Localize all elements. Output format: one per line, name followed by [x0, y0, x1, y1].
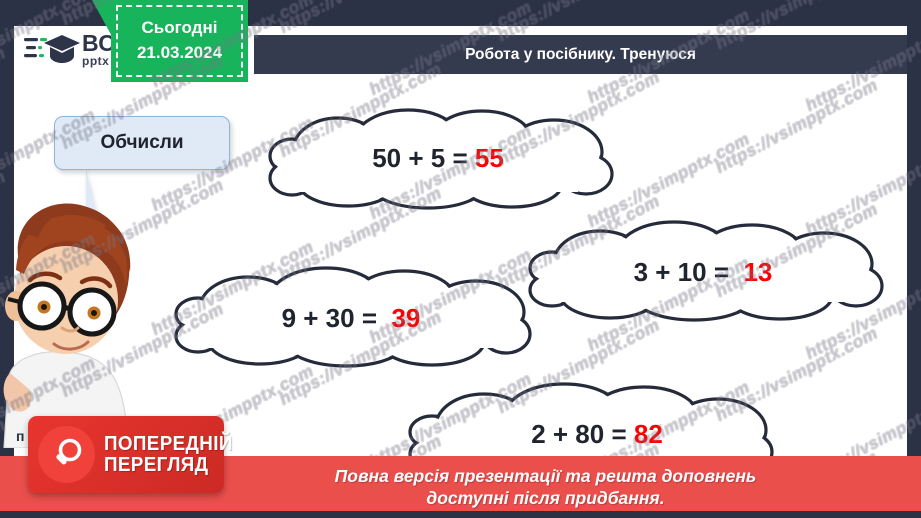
equation-answer-2: 13 [743, 257, 772, 288]
cloud-equation-1: 50 + 5 = 55 [268, 108, 608, 208]
preview-badge-line2: ПЕРЕГЛЯД [104, 455, 233, 475]
magnifier-icon [38, 426, 95, 483]
boy-character-illustration [0, 198, 140, 448]
equation-answer-1: 55 [475, 143, 504, 174]
equation-answer-3: 39 [391, 303, 420, 334]
date-badge-label: Сьогодні [142, 16, 218, 41]
equation-expression-3: 9 + 30 = [282, 303, 392, 334]
slide-title: Робота у посібнику. Тренуюся [465, 46, 696, 64]
speech-bubble-text: Обчисли [100, 132, 183, 154]
cloud-equation-2: 3 + 10 = 13 [528, 222, 878, 322]
preview-badge-line1: ПОПЕРЕДНІЙ [104, 434, 233, 454]
equation-answer-4: 82 [634, 419, 663, 450]
equation-text-2: 3 + 10 = 13 [528, 222, 878, 322]
slide-canvas: 50 + 5 = 55 [0, 0, 921, 518]
cloud-equation-3: 9 + 30 = 39 [176, 268, 526, 368]
equation-expression-4: 2 + 80 = [531, 419, 634, 450]
equation-expression-2: 3 + 10 = [634, 257, 744, 288]
bottom-dark-strip [0, 511, 921, 518]
equation-text-1: 50 + 5 = 55 [268, 108, 608, 208]
equation-text-3: 9 + 30 = 39 [176, 268, 526, 368]
left-partial-text: п [16, 428, 24, 444]
slide-title-bar: Робота у посібнику. Тренуюся [254, 35, 907, 74]
date-badge: Сьогодні 21.03.2024 [111, 0, 248, 82]
graduation-cap-icon [24, 33, 80, 67]
purchase-notice-line2: доступні після придбання. [426, 487, 664, 509]
speech-bubble: Обчисли [54, 116, 230, 170]
equation-expression-1: 50 + 5 = [372, 143, 475, 174]
purchase-notice-line1: Повна версія презентації та решта доповн… [335, 465, 757, 487]
preview-badge[interactable]: ПОПЕРЕДНІЙ ПЕРЕГЛЯД [28, 416, 224, 493]
date-badge-date: 21.03.2024 [137, 41, 222, 66]
